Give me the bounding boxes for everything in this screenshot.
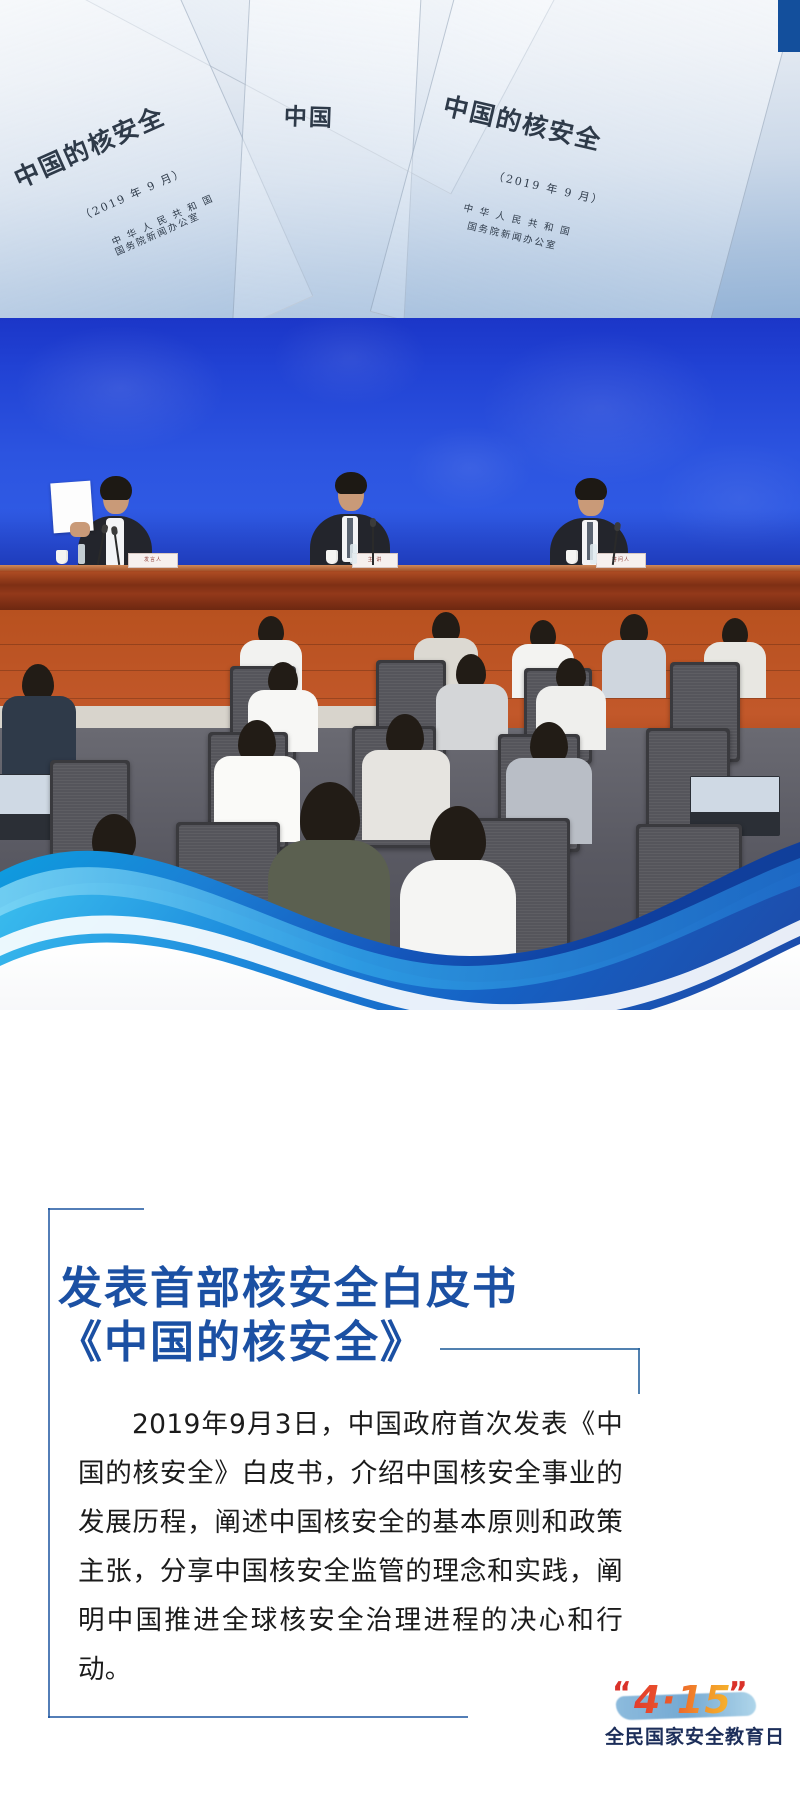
page-title: 发表首部核安全白皮书 《中国的核安全》 <box>58 1262 718 1369</box>
badge-number: 4·15 <box>634 1678 732 1722</box>
blue-wave-decoration <box>0 760 800 1010</box>
quote-close: ” <box>728 1676 748 1711</box>
tea-cup <box>566 550 578 564</box>
headline-underline <box>440 1348 640 1350</box>
water-bottle <box>350 544 357 564</box>
left-rule-bottom-tick <box>48 1716 468 1718</box>
backdrop-center-title: 中国 <box>283 97 334 133</box>
nameplate: 主 讲 <box>352 553 398 568</box>
quote-open: “ <box>612 1676 632 1711</box>
water-bottle <box>590 544 597 564</box>
tea-cup <box>326 550 338 564</box>
left-rule-top-tick <box>48 1208 144 1210</box>
poster-root: 中国的核安全 （2019 年 9 月） 中 华 人 民 共 和 国 国务院新闻办… <box>0 0 800 1799</box>
desk-edge <box>0 565 800 571</box>
panel-desk: 发言人 主 讲 答问人 <box>0 565 800 613</box>
nameplate: 发言人 <box>128 553 178 568</box>
body-paragraph: 2019年9月3日，中国政府首次发表《中国的核安全》白皮书，介绍中国核安全事业的… <box>78 1400 623 1694</box>
water-bottle <box>78 544 85 564</box>
nameplate: 答问人 <box>596 553 646 568</box>
tea-cup <box>56 550 68 564</box>
corner-accent-block <box>778 0 800 52</box>
headline-line-1: 发表首部核安全白皮书 <box>58 1263 518 1314</box>
microphone <box>372 525 374 565</box>
national-security-education-day-badge: “ 4·15 ” 全民国家安全教育日 <box>600 1676 790 1754</box>
left-vertical-rule <box>48 1208 50 1718</box>
headline-line-2: 《中国的核安全》 <box>58 1316 718 1370</box>
headline-bracket-corner <box>638 1348 640 1394</box>
badge-subtitle: 全民国家安全教育日 <box>600 1722 790 1749</box>
whitepaper-collage: 中国的核安全 （2019 年 9 月） 中 华 人 民 共 和 国 国务院新闻办… <box>0 0 800 330</box>
press-conference-photo: 中国的核安全 （2019 年 9 月） 中 华 人 民 共 和 国 国务院新闻办… <box>0 0 800 1010</box>
